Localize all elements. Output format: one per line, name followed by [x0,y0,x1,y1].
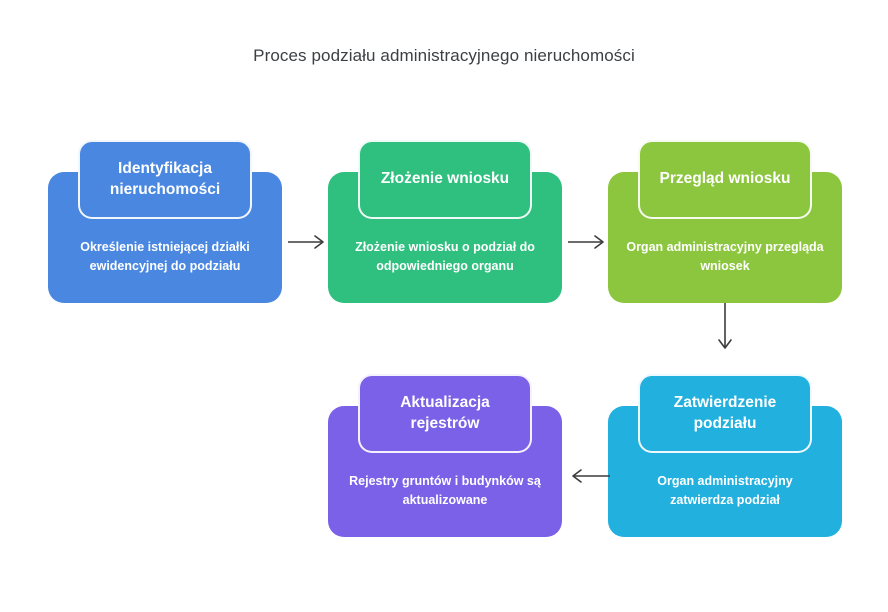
flow-node-description: Organ administracyjny przegląda wniosek [625,238,825,275]
flow-node-title: Przegląd wniosku [654,169,797,189]
flow-node-title: Złożenie wniosku [375,169,515,189]
arrow-step4-to-step5 [566,466,610,486]
flow-node-header: Złożenie wniosku [358,140,532,219]
flow-node-header: Identyfikacja nieruchomości [78,140,252,219]
flow-node-description: Rejestry gruntów i budynków są aktualizo… [345,472,545,509]
flow-node-header: Przegląd wniosku [638,140,812,219]
arrow-step2-to-step3 [568,232,610,252]
arrow-step1-to-step2 [288,232,330,252]
flow-node-title: Identyfikacja nieruchomości [80,159,250,200]
flow-node-description: Złożenie wniosku o podział do odpowiedni… [345,238,545,275]
flowchart-canvas: Proces podziału administracyjnego nieruc… [0,0,888,612]
flow-node-description: Określenie istniejącej działki ewidencyj… [65,238,265,275]
page-title: Proces podziału administracyjnego nieruc… [0,46,888,66]
flow-node-description: Organ administracyjny zatwierdza podział [625,472,825,509]
flow-node-title: Aktualizacja rejestrów [360,393,530,434]
flow-node-title: Zatwierdzenie podziału [640,393,810,434]
flow-node-header: Zatwierdzenie podziału [638,374,812,453]
arrow-step3-to-step4 [715,303,735,355]
flow-node-header: Aktualizacja rejestrów [358,374,532,453]
